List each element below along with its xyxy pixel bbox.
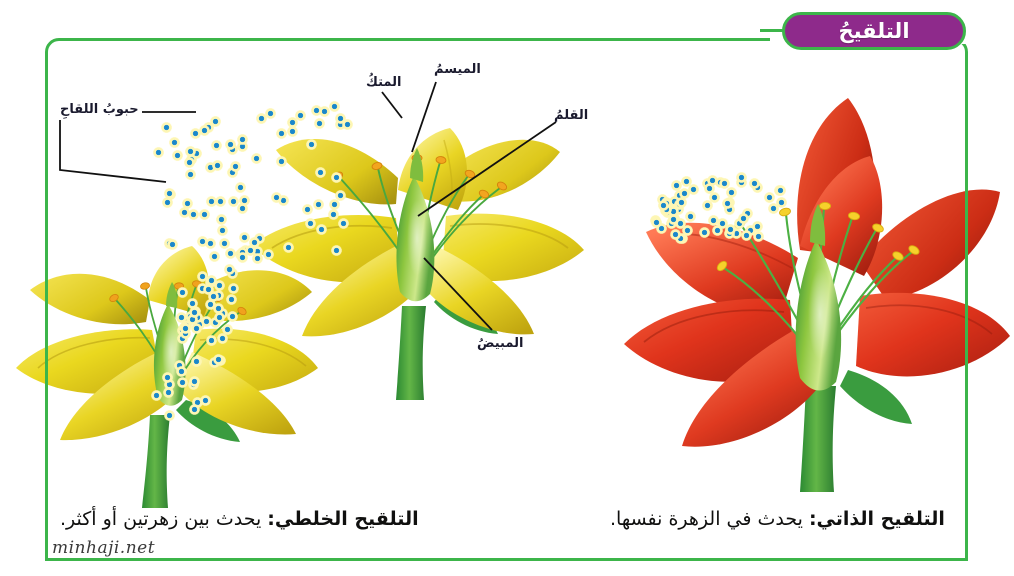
label-ovary: المبيضُ (477, 336, 523, 351)
site-watermark: minhaji.net (52, 538, 155, 558)
caption-self-pollination: التلقيح الذاتي: يحدث في الزهرة نفسها. (610, 508, 945, 530)
caption-self-term: التلقيح الذاتي: (809, 508, 945, 530)
caption-cross-pollination: التلقيح الخلطي: يحدث بين زهرتين أو أكثر. (60, 508, 419, 530)
label-stigma: الميسمُ (434, 62, 481, 77)
caption-self-definition: يحدث في الزهرة نفسها. (610, 508, 809, 530)
content-frame (45, 38, 968, 561)
label-style: القلمُ (554, 108, 588, 123)
pollination-diagram-page: التلقيحُ حبوبُ اللقاحِ المتكُ الميسمُ ال… (0, 0, 1014, 576)
caption-cross-term: التلقيح الخلطي: (267, 508, 418, 530)
title-badge: التلقيحُ (782, 12, 966, 50)
label-pollen-grains: حبوبُ اللقاحِ (60, 102, 139, 117)
label-anther: المتكُ (366, 75, 401, 90)
caption-cross-definition: يحدث بين زهرتين أو أكثر. (60, 508, 267, 530)
